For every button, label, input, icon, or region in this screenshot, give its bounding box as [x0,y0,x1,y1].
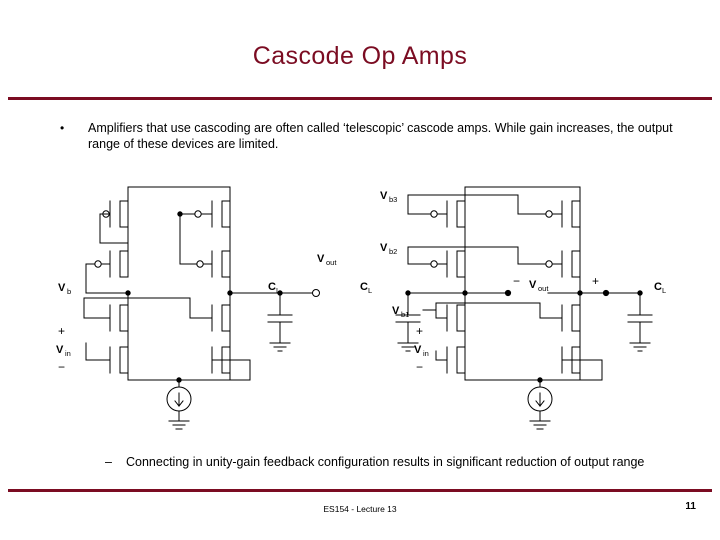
bullet-primary-text: Amplifiers that use cascoding are often … [88,120,700,152]
label-minus-vout-right: − [513,274,520,288]
label-vb2: V [380,242,388,254]
label-vout-left: V [317,253,325,265]
label-vb3: V [380,190,388,202]
label-cl-right-left: C [360,281,368,293]
sub-bullet-marker-icon: – [105,454,112,471]
label-plus-vout-right: + [592,274,599,288]
label-vb-left-sub: b [67,287,71,296]
label-cl-right-right: C [654,281,662,293]
footer-divider [8,489,712,492]
bullet-marker-icon: • [60,120,64,136]
label-vb1-sub: b1 [401,310,409,319]
label-vin-left-sub: in [65,349,71,358]
label-cl-right-left-sub: L [368,286,372,295]
label-vout-right-sub: out [538,284,549,293]
label-vb1: V [392,305,400,317]
title-divider [8,97,712,100]
label-minus-left: − [58,360,65,374]
page-title: Cascode Op Amps [0,42,720,71]
bullet-primary: • Amplifiers that use cascoding are ofte… [60,120,700,152]
page-number: 11 [685,501,696,512]
footer-text: ES154 - Lecture 13 [0,504,720,514]
label-vb-left: V [58,282,66,294]
cascode-op-amp-figure: V out C L V b + V in − V b3 V b2 V b1 − … [40,165,680,450]
label-plus-left: + [58,324,65,338]
label-cl-left: C [268,281,276,293]
right-circuit-labels: V b3 V b2 V b1 − V out + C L C L + V in … [360,190,666,374]
label-vin-right-sub: in [423,349,429,358]
label-vout-left-sub: out [326,258,337,267]
label-vb3-sub: b3 [389,195,397,204]
label-cl-left-sub: L [276,286,280,295]
label-vout-right: V [529,279,537,291]
label-minus-right: − [416,360,423,374]
label-vb2-sub: b2 [389,247,397,256]
label-cl-right-right-sub: L [662,286,666,295]
bullet-secondary-text: Connecting in unity-gain feedback config… [126,454,665,471]
label-vin-right: V [414,344,422,356]
left-circuit-labels: V out C L V b + V in − [56,253,337,374]
label-plus-right: + [416,324,423,338]
label-vin-left: V [56,344,64,356]
slide: Cascode Op Amps • Amplifiers that use ca… [0,0,720,540]
bullet-secondary: – Connecting in unity-gain feedback conf… [105,454,665,471]
